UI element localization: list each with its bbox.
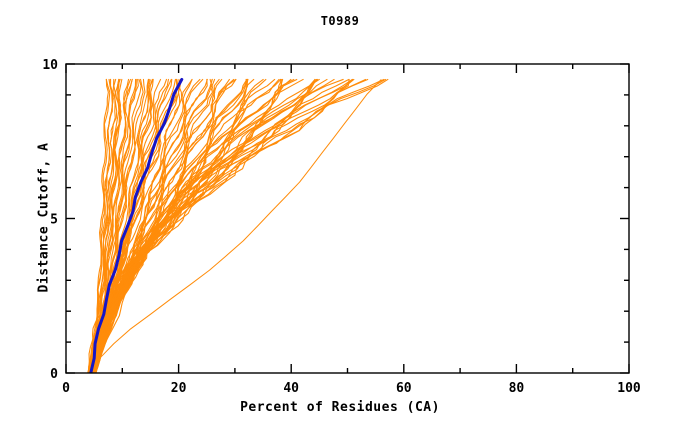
chart-figure: T0989 0204060801000510 Percent of Residu…: [0, 0, 680, 440]
x-tick-label: 60: [396, 381, 412, 396]
curves-layer: [88, 79, 388, 373]
x-axis-label: Percent of Residues (CA): [0, 400, 680, 415]
x-tick-label: 80: [509, 381, 525, 396]
y-tick-label: 0: [50, 367, 58, 382]
x-tick-label: 40: [283, 381, 299, 396]
y-tick-label: 10: [42, 58, 58, 73]
x-tick-label: 20: [171, 381, 187, 396]
x-tick-label: 100: [617, 381, 641, 396]
y-axis-label: Distance Cutoff, A: [37, 98, 52, 338]
prediction-curve: [94, 79, 365, 373]
x-tick-label: 0: [62, 381, 70, 396]
chart-canvas: 0204060801000510: [0, 0, 680, 440]
